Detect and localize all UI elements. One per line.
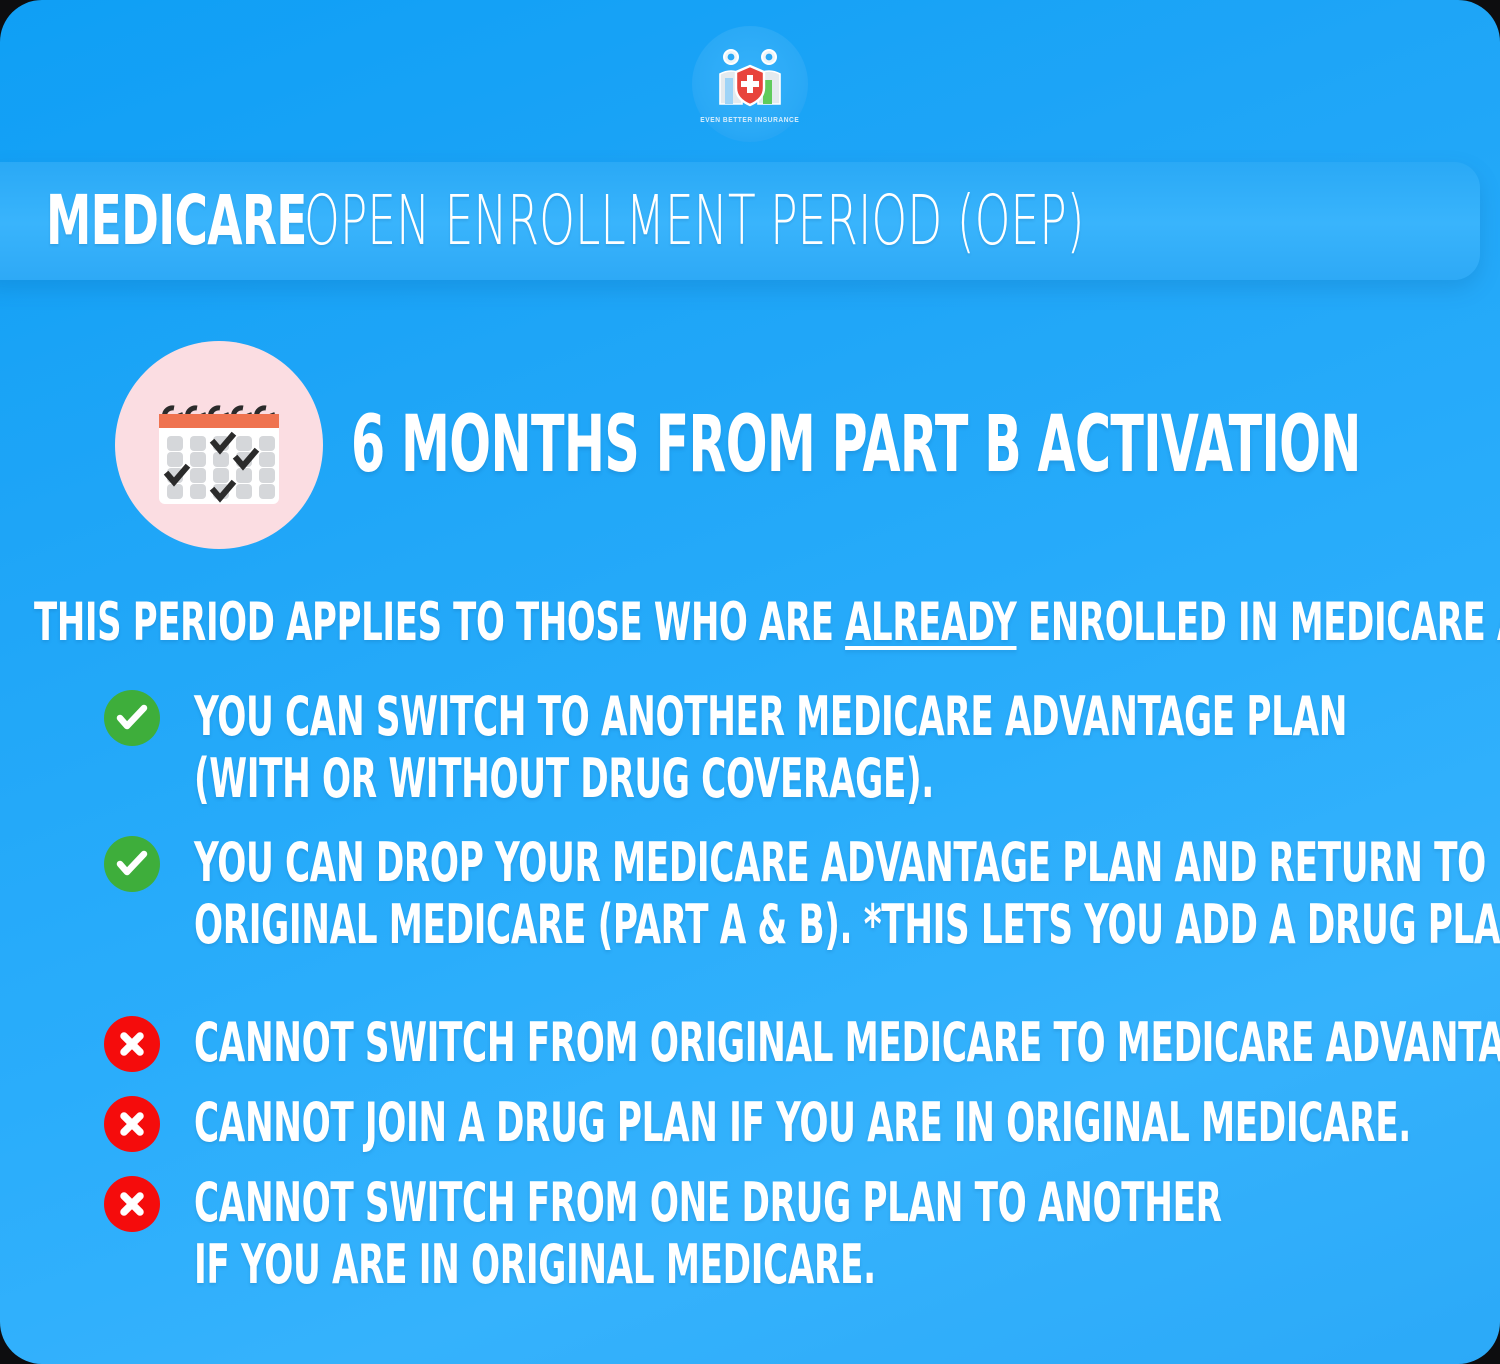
list-item: CANNOT JOIN A DRUG PLAN IF YOU ARE IN OR…: [104, 1092, 1484, 1154]
section-gap: [104, 978, 1484, 1012]
subtitle-after: ENROLLED IN MEDICARE ADVANTAGE: [1017, 592, 1500, 653]
x-circle-icon: [104, 1016, 160, 1072]
list-item-text: YOU CAN SWITCH TO ANOTHER MEDICARE ADVAN…: [194, 686, 1500, 810]
list-item-line: CANNOT JOIN A DRUG PLAN IF YOU ARE IN OR…: [194, 1092, 1411, 1154]
list-item-line: IF YOU ARE IN ORIGINAL MEDICARE.: [194, 1234, 1222, 1296]
list-item-line: CANNOT SWITCH FROM ONE DRUG PLAN TO ANOT…: [194, 1172, 1222, 1234]
list-item-line: YOU CAN DROP YOUR MEDICARE ADVANTAGE PLA…: [194, 832, 1500, 894]
infographic-card: EVEN BETTER INSURANCE MEDICARE OPEN ENRO…: [0, 0, 1500, 1364]
list-item: CANNOT SWITCH FROM ONE DRUG PLAN TO ANOT…: [104, 1172, 1484, 1296]
list-item-text: YOU CAN DROP YOUR MEDICARE ADVANTAGE PLA…: [194, 832, 1500, 956]
subtitle: THIS PERIOD APPLIES TO THOSE WHO ARE ALR…: [34, 592, 1500, 653]
page-title-light: OPEN ENROLLMENT PERIOD (OEP): [304, 187, 1084, 256]
bullet-list: YOU CAN SWITCH TO ANOTHER MEDICARE ADVAN…: [104, 686, 1484, 1314]
list-item-line: ORIGINAL MEDICARE (PART A & B). *THIS LE…: [194, 894, 1500, 956]
headline-row: 6 MONTHS FROM PART B ACTIVATION: [0, 342, 1500, 548]
page-title-strong: MEDICARE: [46, 187, 307, 256]
title-banner: MEDICARE OPEN ENROLLMENT PERIOD (OEP): [0, 162, 1480, 280]
list-item-text: CANNOT SWITCH FROM ONE DRUG PLAN TO ANOT…: [194, 1172, 1500, 1296]
calendar-icon-badge: [115, 341, 323, 549]
list-item: CANNOT SWITCH FROM ORIGINAL MEDICARE TO …: [104, 1012, 1484, 1074]
brand-logo: EVEN BETTER INSURANCE: [0, 26, 1500, 142]
list-item-line: CANNOT SWITCH FROM ORIGINAL MEDICARE TO …: [194, 1012, 1500, 1074]
people-shield-cross-icon: [712, 48, 788, 112]
list-item: YOU CAN SWITCH TO ANOTHER MEDICARE ADVAN…: [104, 686, 1484, 810]
headline-text: 6 MONTHS FROM PART B ACTIVATION: [351, 406, 1361, 484]
logo-circle: EVEN BETTER INSURANCE: [692, 26, 808, 142]
list-item-line: YOU CAN SWITCH TO ANOTHER MEDICARE ADVAN…: [194, 686, 1347, 748]
calendar-icon: [153, 388, 285, 508]
subtitle-emphasis: ALREADY: [845, 592, 1016, 653]
list-item-line: (WITH OR WITHOUT DRUG COVERAGE).: [194, 748, 1347, 810]
page-title: MEDICARE OPEN ENROLLMENT PERIOD (OEP): [46, 186, 1422, 256]
check-circle-icon: [104, 690, 160, 746]
logo-tagline: EVEN BETTER INSURANCE: [700, 115, 799, 124]
check-circle-icon: [104, 836, 160, 892]
subtitle-before: THIS PERIOD APPLIES TO THOSE WHO ARE: [34, 592, 845, 653]
list-item: YOU CAN DROP YOUR MEDICARE ADVANTAGE PLA…: [104, 832, 1484, 956]
list-item-text: CANNOT SWITCH FROM ORIGINAL MEDICARE TO …: [194, 1012, 1500, 1074]
list-item-text: CANNOT JOIN A DRUG PLAN IF YOU ARE IN OR…: [194, 1092, 1500, 1154]
x-circle-icon: [104, 1096, 160, 1152]
x-circle-icon: [104, 1176, 160, 1232]
